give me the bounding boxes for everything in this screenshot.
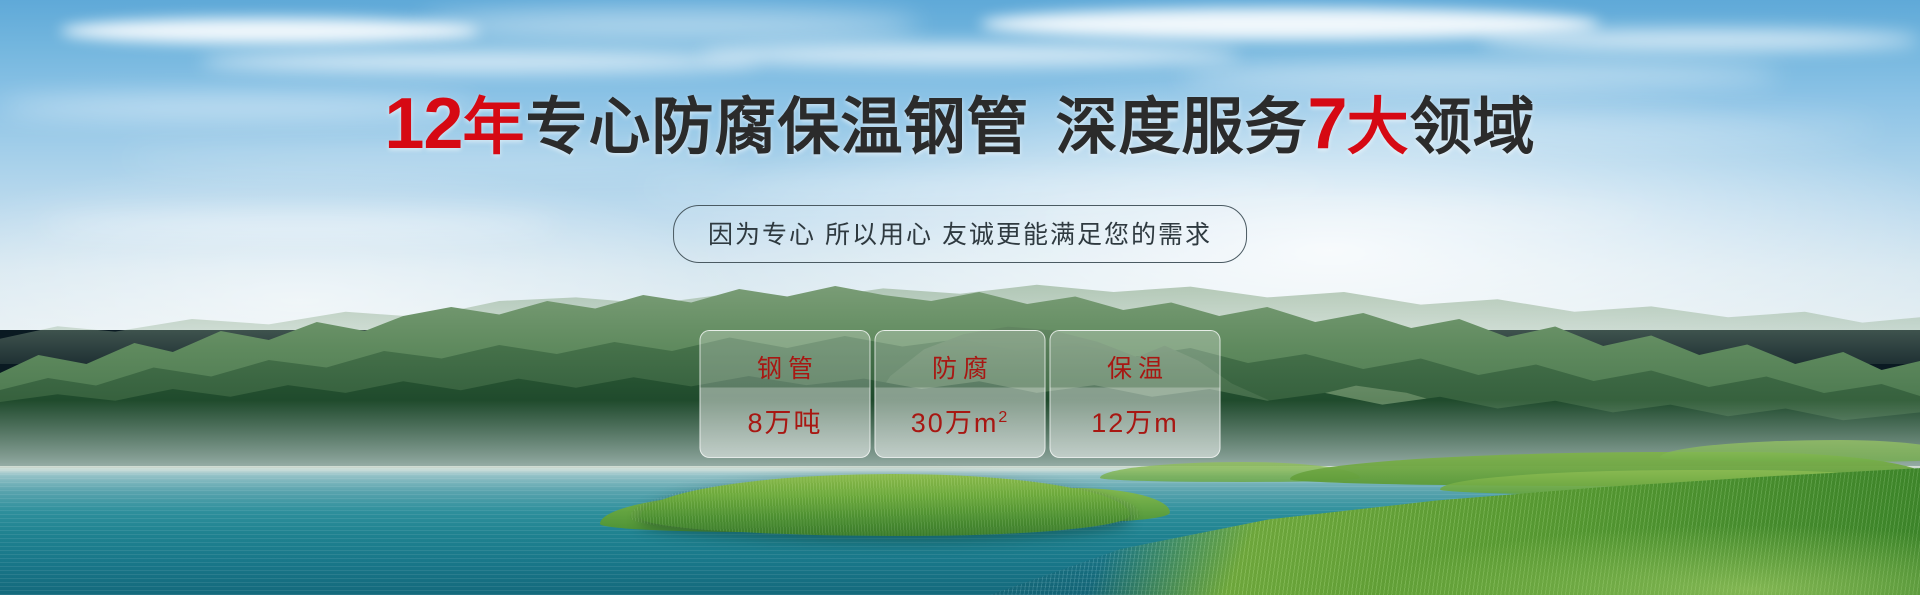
stat-label: 钢管 bbox=[751, 349, 819, 385]
stat-label: 保温 bbox=[1101, 349, 1169, 385]
headline-year-unit: 年 bbox=[462, 93, 525, 162]
stat-card-anticorrosion: 防腐 30万m2 bbox=[875, 330, 1046, 458]
headline-seven-number: 7 bbox=[1308, 84, 1347, 164]
stat-label: 防腐 bbox=[926, 349, 994, 385]
banner-headline: 12年专心防腐保温钢管深度服务7大领域 bbox=[0, 88, 1920, 160]
stat-card-insulation: 保温 12万m bbox=[1050, 330, 1221, 458]
stat-value-text: 8万吨 bbox=[747, 408, 822, 438]
banner-subtitle-pill: 因为专心 所以用心 友诚更能满足您的需求 bbox=[673, 205, 1247, 263]
hero-banner: 12年专心防腐保温钢管深度服务7大领域 因为专心 所以用心 友诚更能满足您的需求… bbox=[0, 0, 1920, 595]
stats-group: 钢管 8万吨 防腐 30万m2 保温 12万m bbox=[700, 330, 1221, 458]
stat-value-text: 30万m bbox=[911, 408, 999, 438]
stat-card-steel-pipe: 钢管 8万吨 bbox=[700, 330, 871, 458]
stat-value-superscript: 2 bbox=[998, 409, 1009, 426]
headline-part-three: 领域 bbox=[1410, 93, 1536, 162]
headline-year-number: 12 bbox=[384, 84, 462, 164]
stat-value: 8万吨 bbox=[747, 401, 822, 440]
stat-value: 12万m bbox=[1091, 401, 1179, 440]
headline-part-two: 深度服务 bbox=[1056, 93, 1308, 162]
headline-seven-unit: 大 bbox=[1347, 93, 1410, 162]
stat-value: 30万m2 bbox=[911, 401, 1009, 440]
banner-subtitle-text: 因为专心 所以用心 友诚更能满足您的需求 bbox=[708, 221, 1212, 249]
headline-part-one: 专心防腐保温钢管 bbox=[526, 93, 1030, 162]
banner-content: 12年专心防腐保温钢管深度服务7大领域 因为专心 所以用心 友诚更能满足您的需求… bbox=[0, 0, 1920, 595]
stat-value-text: 12万m bbox=[1091, 408, 1179, 438]
